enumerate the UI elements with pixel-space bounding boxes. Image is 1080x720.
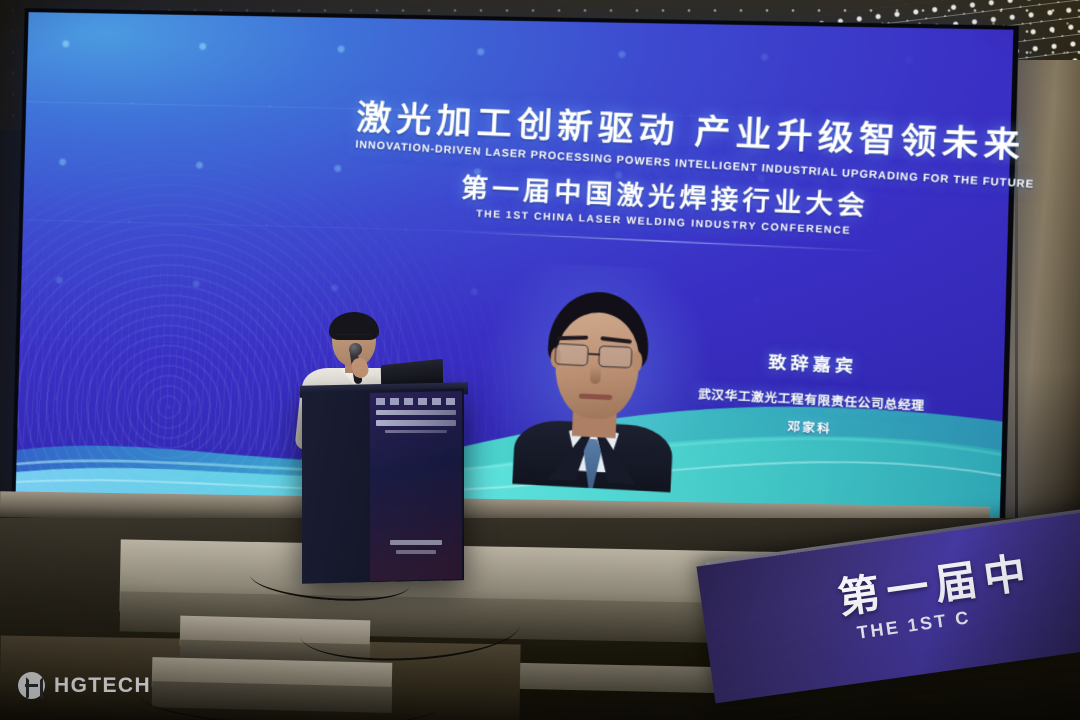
watermark: HGTECH (18, 672, 151, 699)
speaker-portrait (502, 282, 689, 493)
hgtech-logo-icon (18, 672, 45, 699)
podium-footer-line (390, 540, 442, 545)
stage-step-right (520, 663, 721, 693)
podium-footer-line-secondary (396, 550, 436, 554)
speaker-credit-block: 致辞嘉宾 武汉华工激光工程有限责任公司总经理 邓家科 (667, 343, 957, 444)
podium-subtitle-line (376, 420, 456, 426)
podium-sponsor-logos (376, 398, 456, 405)
conference-stage-photo: 激光加工创新驱动 产业升级智领未来 INNOVATION-DRIVEN LASE… (0, 0, 1080, 720)
microphone-head-icon (349, 343, 362, 356)
portrait-nose (590, 365, 601, 384)
podium-title-line (376, 410, 456, 415)
led-screen-frame: 激光加工创新驱动 产业升级智领未来 INNOVATION-DRIVEN LASE… (11, 8, 1019, 544)
portrait-glasses-left (554, 343, 588, 366)
portrait-glasses-right (598, 345, 632, 368)
portrait-brow-left (557, 336, 588, 341)
credit-organization: 武汉华工激光工程有限责任公司总经理 (669, 383, 955, 415)
podium-caption-line (385, 430, 447, 433)
watermark-brand: HGTECH (54, 674, 151, 698)
